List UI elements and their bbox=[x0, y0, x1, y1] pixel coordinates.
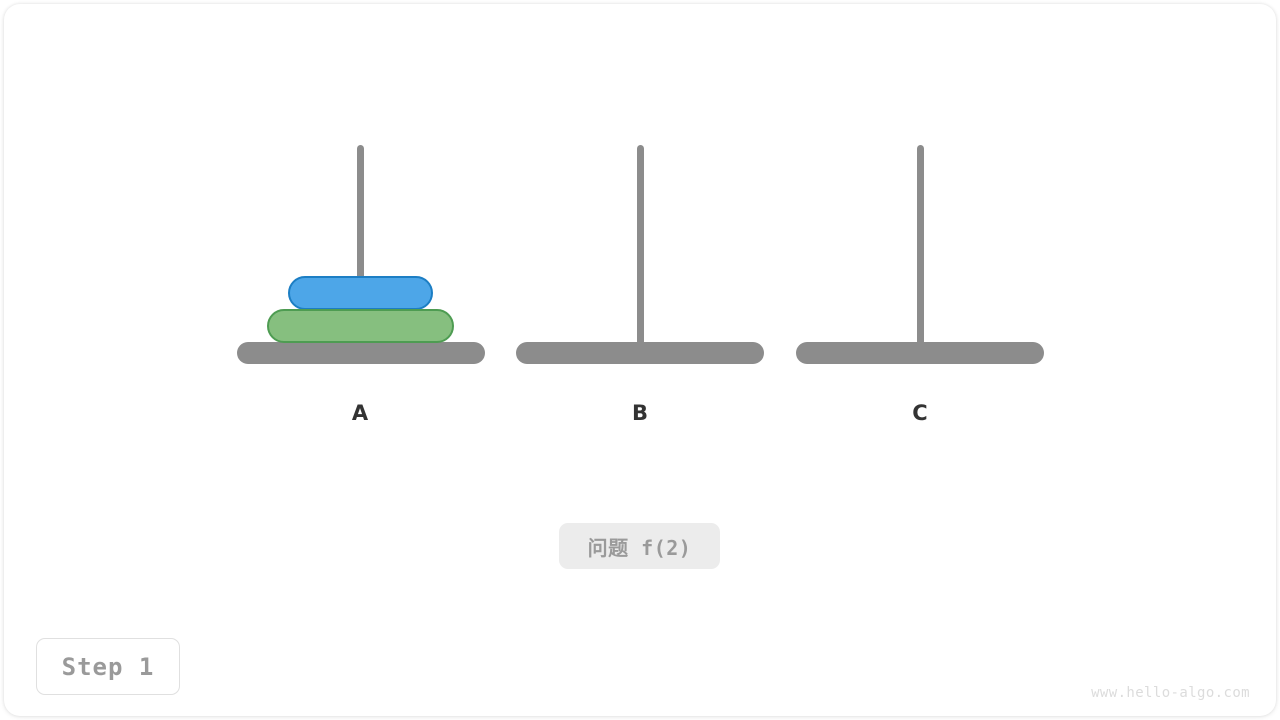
step-badge-label: Step 1 bbox=[62, 653, 155, 681]
step-badge: Step 1 bbox=[36, 638, 180, 695]
peg-label-a: A bbox=[335, 403, 385, 424]
base-a bbox=[237, 342, 485, 364]
disk-small-blue[interactable] bbox=[288, 276, 433, 310]
watermark: www.hello-algo.com bbox=[1091, 685, 1250, 701]
peg-label-c: C bbox=[895, 403, 945, 424]
pole-b bbox=[637, 145, 644, 345]
problem-badge: 问题 f(2) bbox=[559, 523, 720, 569]
hanoi-diagram-canvas: A B C 问题 f(2) Step 1 www.hello-algo.com bbox=[0, 0, 1280, 720]
pole-c bbox=[917, 145, 924, 345]
peg-label-b: B bbox=[615, 403, 665, 424]
base-b bbox=[516, 342, 764, 364]
disk-large-green[interactable] bbox=[267, 309, 454, 343]
problem-badge-label: 问题 f(2) bbox=[588, 532, 692, 561]
base-c bbox=[796, 342, 1044, 364]
